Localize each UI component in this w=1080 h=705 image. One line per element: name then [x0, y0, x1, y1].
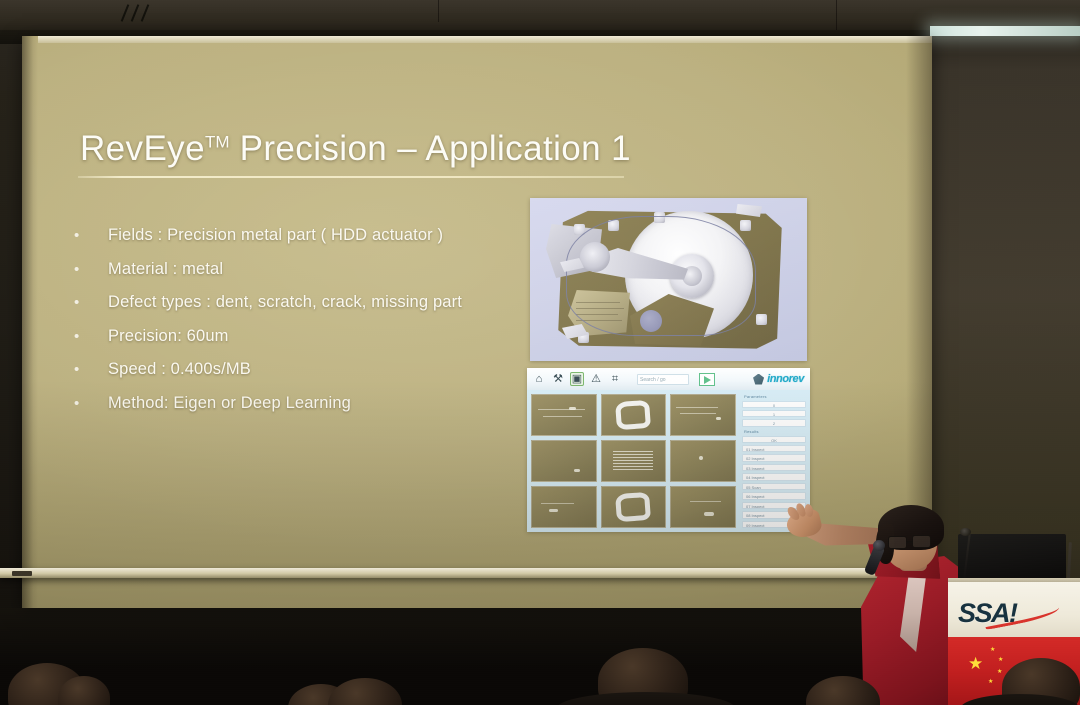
bullet-text-fields: Fields : Precision metal part ( HDD actu…	[108, 226, 544, 245]
software-body: Parameters 0 1 2 Results OK 01 Inspect 0…	[527, 390, 810, 532]
result-value: OK	[742, 436, 806, 443]
list-item[interactable]: 01 Inspect	[742, 445, 806, 452]
flag-star-large: ★	[968, 655, 983, 672]
software-logo: innorev	[753, 373, 804, 385]
bullet-text-method: Method: Eigen or Deep Learning	[108, 394, 544, 413]
podium-laptop	[958, 534, 1066, 580]
slide-title-rest: Precision – Application 1	[230, 129, 631, 168]
bullet-text-speed: Speed : 0.400s/MB	[108, 360, 544, 379]
parameter-field[interactable]: 0	[742, 401, 806, 408]
screen-bottom-bar	[0, 568, 934, 578]
software-sidebar: Parameters 0 1 2 Results OK 01 Inspect 0…	[740, 390, 810, 532]
flag-star-small: ★	[990, 647, 995, 653]
home-icon[interactable]: ⌂	[532, 372, 546, 386]
inspection-image-grid	[527, 390, 740, 532]
sidebar-section-title: Parameters	[742, 394, 806, 399]
inspection-cell[interactable]	[601, 394, 667, 436]
flag-star-small: ★	[997, 669, 1002, 675]
flag-star-small: ★	[988, 679, 993, 685]
inspection-cell[interactable]	[531, 486, 597, 528]
screen-bottom-knob	[12, 571, 32, 576]
bullet-dot-icon: •	[74, 396, 108, 411]
list-item: • Fields : Precision metal part ( HDD ac…	[74, 226, 544, 245]
list-item: • Material : metal	[74, 260, 544, 279]
list-item[interactable]: 02 Inspect	[742, 454, 806, 461]
bullet-text-defect-types: Defect types : dent, scratch, crack, mis…	[108, 293, 544, 312]
slide-title-main: RevEye	[80, 129, 205, 168]
inspection-software-screenshot: ⌂ ⚒ ▣ ⚠ ⌗ Search / go innorev	[527, 368, 810, 532]
bullet-text-material: Material : metal	[108, 260, 544, 279]
bullet-text-precision: Precision: 60um	[108, 327, 544, 346]
tools-icon[interactable]: ⚒	[551, 372, 565, 386]
bullet-dot-icon: •	[74, 329, 108, 344]
room-floor-shadow	[0, 608, 948, 705]
ceiling-light-strip	[930, 26, 1080, 36]
bullet-dot-icon: •	[74, 362, 108, 377]
slide-title-trademark: TM	[205, 132, 230, 151]
inspection-cell[interactable]	[670, 486, 736, 528]
sidebar-subsection-title: Results	[742, 429, 806, 434]
alert-icon[interactable]: ⚠	[589, 372, 603, 386]
inspection-cell[interactable]	[601, 440, 667, 482]
hdd-flex-cable	[566, 216, 756, 336]
ceiling-seam-b	[836, 0, 837, 30]
inspection-cell[interactable]	[601, 486, 667, 528]
podium-mic-icon	[960, 528, 971, 536]
list-item: • Speed : 0.400s/MB	[74, 360, 544, 379]
ceiling-seam-a	[438, 0, 439, 22]
slide-surface: RevEyeTM Precision – Application 1 • Fie…	[22, 36, 932, 608]
parameter-field[interactable]: 1	[742, 410, 806, 417]
bullet-dot-icon: •	[74, 228, 108, 243]
hdd-photo	[530, 198, 807, 361]
hdd-screw	[740, 220, 751, 231]
projection-screen: RevEyeTM Precision – Application 1 • Fie…	[22, 36, 932, 608]
list-item[interactable]: 05 Scan	[742, 483, 806, 490]
measure-icon[interactable]: ⌗	[608, 372, 622, 386]
title-underline-rule	[78, 176, 624, 178]
logo-mark-icon	[753, 374, 764, 385]
software-toolbar: ⌂ ⚒ ▣ ⚠ ⌗ Search / go innorev	[527, 368, 810, 390]
bullet-dot-icon: •	[74, 295, 108, 310]
conference-photo: RevEyeTM Precision – Application 1 • Fie…	[0, 0, 1080, 705]
list-item[interactable]: 09 Inspect	[742, 521, 806, 528]
list-item: • Precision: 60um	[74, 327, 544, 346]
screen-right-fold	[906, 36, 932, 608]
list-item[interactable]: 07 Inspect	[742, 502, 806, 509]
bullet-list: • Fields : Precision metal part ( HDD ac…	[74, 226, 544, 427]
inspection-cell[interactable]	[531, 394, 597, 436]
logo-wordmark: innorev	[767, 373, 804, 385]
slide-title: RevEyeTM Precision – Application 1	[80, 129, 631, 169]
ssa-logo: SSA!	[958, 598, 1068, 630]
run-button[interactable]	[699, 373, 715, 386]
list-item[interactable]: 08 Inspect	[742, 511, 806, 518]
inspection-cell[interactable]	[531, 440, 597, 482]
ceiling-band	[0, 0, 1080, 34]
bullet-dot-icon: •	[74, 262, 108, 277]
search-input[interactable]: Search / go	[637, 374, 689, 385]
parameter-field[interactable]: 2	[742, 419, 806, 426]
list-item[interactable]: 04 Inspect	[742, 473, 806, 480]
camera-icon[interactable]: ▣	[570, 372, 584, 386]
list-item[interactable]: 06 Inspect	[742, 492, 806, 499]
list-item: • Method: Eigen or Deep Learning	[74, 394, 544, 413]
list-item[interactable]: 03 Inspect	[742, 464, 806, 471]
inspection-cell[interactable]	[670, 440, 736, 482]
list-item: • Defect types : dent, scratch, crack, m…	[74, 293, 544, 312]
podium-logo-panel: SSA!	[948, 582, 1080, 637]
screen-left-fold	[22, 36, 38, 608]
hdd-screw	[756, 314, 767, 325]
inspection-cell[interactable]	[670, 394, 736, 436]
flag-star-small: ★	[998, 657, 1003, 663]
